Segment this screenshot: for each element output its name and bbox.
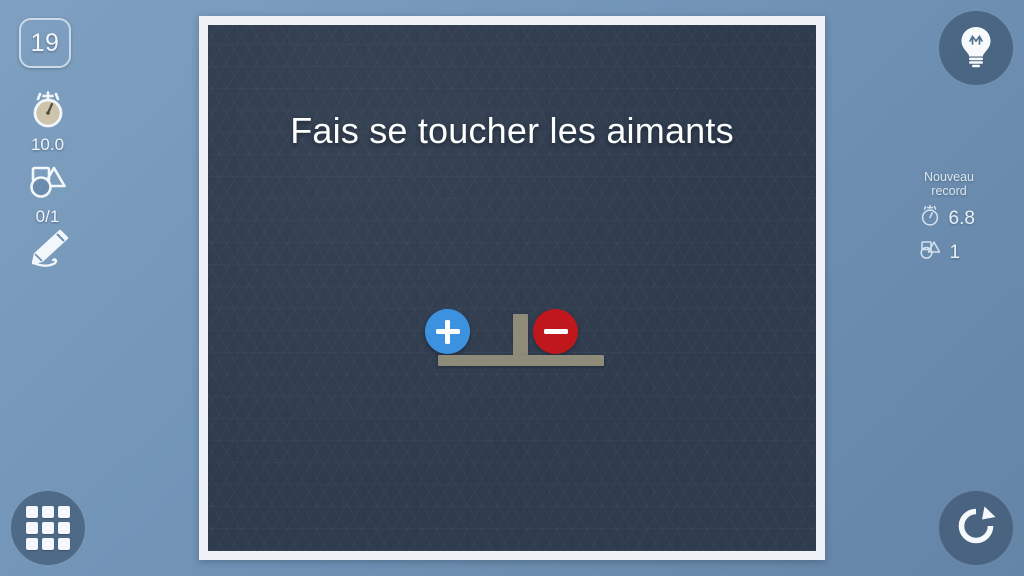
grid-cell [42,506,54,518]
grid-icon [26,506,70,550]
platform-bar [438,355,604,366]
hud-stat-timer: 10.0 [0,90,95,155]
game-canvas[interactable]: Fais se toucher les aimants [208,25,816,551]
level-badge[interactable]: 19 [19,18,71,68]
refresh-icon [954,504,998,553]
grid-cell [42,538,54,550]
grid-cell [26,522,38,534]
record-objects-row: 1 [894,239,1004,266]
magnet-positive[interactable] [425,309,470,354]
plus-sign-vertical [445,320,451,344]
left-hud-panel: 19 10.0 [0,0,95,300]
record-objects-value: 1 [950,242,982,264]
magnet-negative[interactable] [533,309,578,354]
grid-cell [58,506,70,518]
goal-text: Fais se toucher les aimants [208,110,816,152]
shapes-icon [0,162,95,204]
hud-stat-objects: 0/1 [0,162,95,227]
new-record-panel: Nouveau record 6.8 [894,170,1004,266]
stopwatch-icon [0,90,95,132]
timer-value: 10.0 [0,135,95,155]
restart-button[interactable] [939,491,1013,565]
grid-cell [58,522,70,534]
grid-cell [42,522,54,534]
minus-sign [544,329,568,335]
grid-cell [58,538,70,550]
record-title-line2: record [894,184,1004,198]
grid-cell [26,506,38,518]
level-number: 19 [31,29,60,58]
shapes-outline-icon [917,239,943,266]
lightbulb-icon [957,24,995,73]
stopwatch-outline-icon [918,204,942,233]
game-frame: Fais se toucher les aimants [199,16,825,560]
record-title-line1: Nouveau [894,170,1004,184]
record-time-row: 6.8 [894,204,1004,233]
hud-stat-draw[interactable] [0,228,95,270]
objects-value: 0/1 [0,207,95,227]
barrier-post [513,314,528,358]
grid-cell [26,538,38,550]
menu-button[interactable] [11,491,85,565]
record-time-value: 6.8 [949,208,981,230]
hint-button[interactable] [939,11,1013,85]
pencil-icon [0,228,95,270]
